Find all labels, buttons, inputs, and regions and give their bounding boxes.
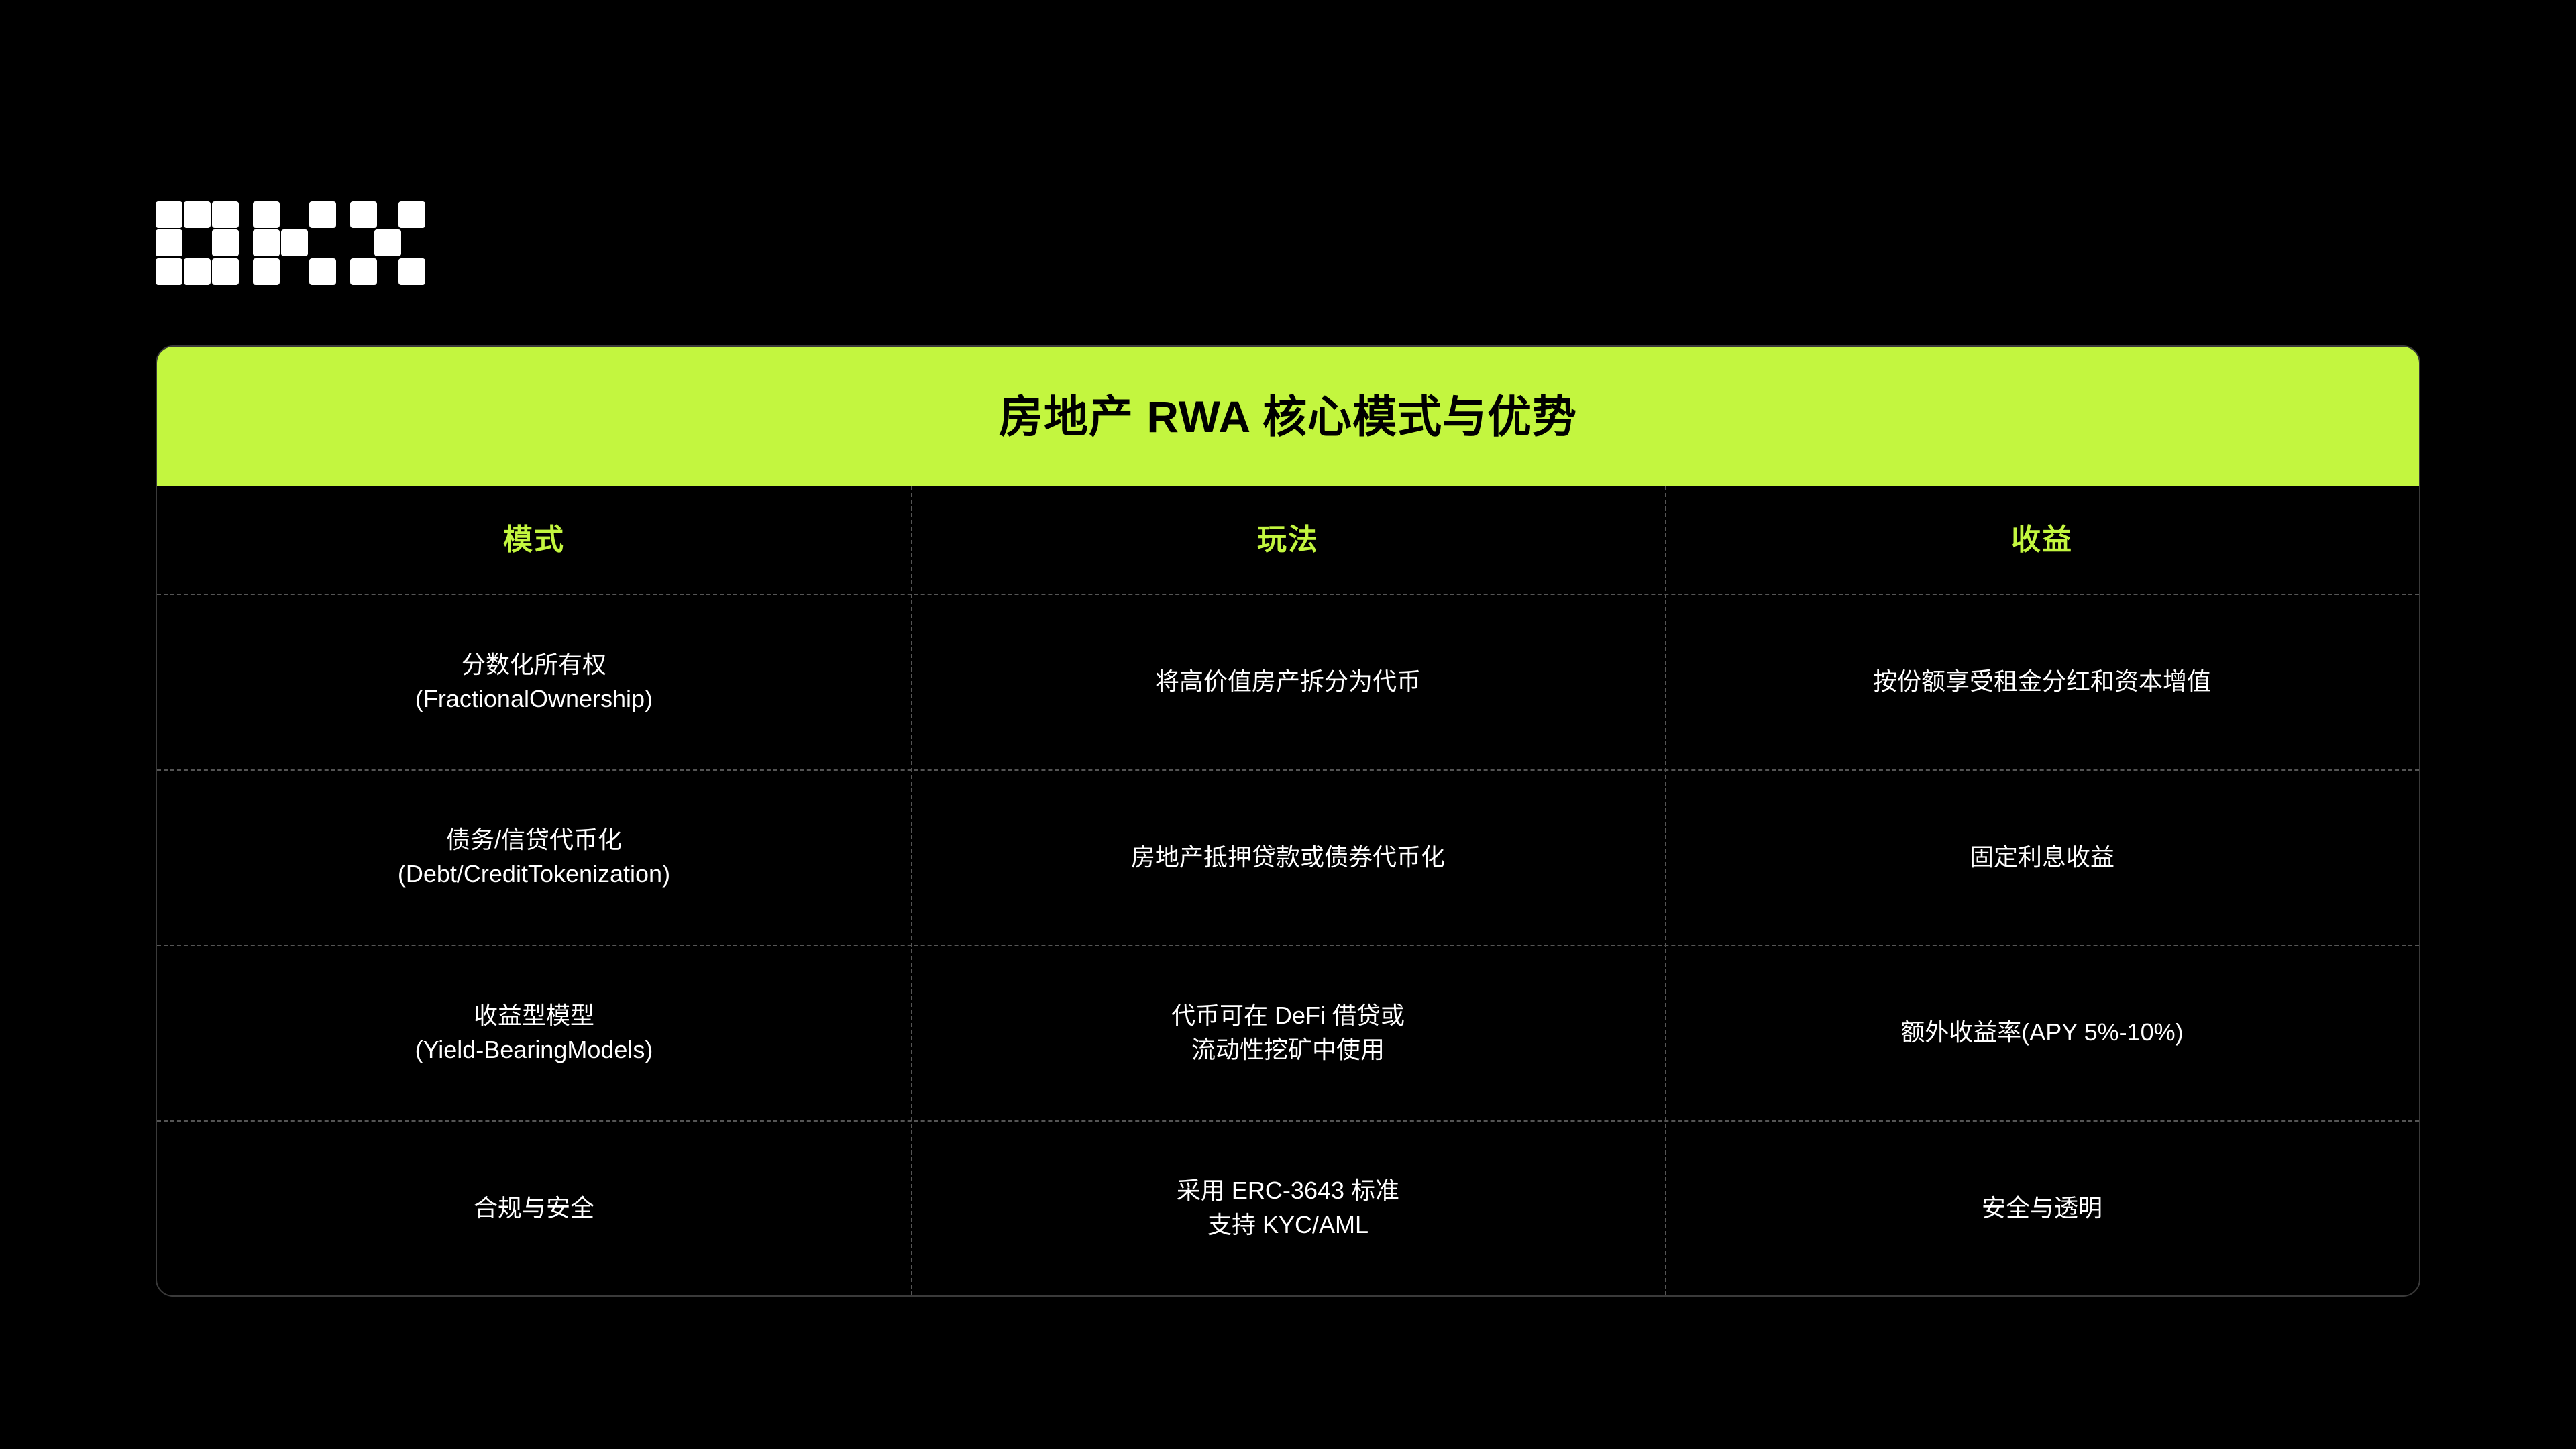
cell-text: 固定利息收益 (1970, 840, 2114, 874)
cell-text: 按份额享受租金分红和资本增值 (1873, 664, 2211, 698)
column-header-mode: 模式 (157, 486, 911, 594)
column-header-label: 模式 (503, 519, 565, 561)
cell-text: 安全与透明 (1982, 1191, 2102, 1225)
cell-text: 合规与安全 (474, 1191, 594, 1225)
cell-text: 采用 ERC-3643 标准 支持 KYC/AML (1177, 1173, 1399, 1242)
okx-logo (156, 201, 425, 285)
cell-yield: 固定利息收益 (1665, 769, 2419, 945)
cell-play: 代币可在 DeFi 借贷或 流动性挖矿中使用 (911, 945, 1665, 1120)
cell-play: 采用 ERC-3643 标准 支持 KYC/AML (911, 1120, 1665, 1296)
cell-mode: 合规与安全 (157, 1120, 911, 1296)
cell-play: 将高价值房产拆分为代币 (911, 594, 1665, 769)
cell-yield: 按份额享受租金分红和资本增值 (1665, 594, 2419, 769)
table-row: 分数化所有权 (FractionalOwnership) 将高价值房产拆分为代币… (157, 594, 2419, 769)
cell-text: 债务/信贷代币化 (Debt/CreditTokenization) (398, 822, 670, 891)
cell-text: 收益型模型 (Yield-BearingModels) (415, 998, 653, 1067)
cell-text: 房地产抵押贷款或债券代币化 (1131, 840, 1445, 874)
rwa-table-card: 房地产 RWA 核心模式与优势 模式 玩法 收益 分数化所有权 (Fracti (156, 345, 2420, 1297)
table-header-row: 模式 玩法 收益 (157, 486, 2419, 594)
cell-text: 额外收益率(APY 5%-10%) (1900, 1015, 2183, 1049)
cell-yield: 安全与透明 (1665, 1120, 2419, 1296)
column-header-yield: 收益 (1665, 486, 2419, 594)
cell-text: 分数化所有权 (FractionalOwnership) (415, 647, 653, 716)
column-header-play: 玩法 (911, 486, 1665, 594)
cell-mode: 债务/信贷代币化 (Debt/CreditTokenization) (157, 769, 911, 945)
cell-text: 代币可在 DeFi 借贷或 流动性挖矿中使用 (1171, 998, 1405, 1067)
cell-play: 房地产抵押贷款或债券代币化 (911, 769, 1665, 945)
card-title: 房地产 RWA 核心模式与优势 (157, 347, 2419, 486)
slide-root: 房地产 RWA 核心模式与优势 模式 玩法 收益 分数化所有权 (Fracti (0, 0, 2576, 1449)
column-header-label: 收益 (2011, 519, 2073, 561)
table-row: 收益型模型 (Yield-BearingModels) 代币可在 DeFi 借贷… (157, 945, 2419, 1120)
table-row: 合规与安全 采用 ERC-3643 标准 支持 KYC/AML 安全与透明 (157, 1120, 2419, 1296)
table-row: 债务/信贷代币化 (Debt/CreditTokenization) 房地产抵押… (157, 769, 2419, 945)
cell-yield: 额外收益率(APY 5%-10%) (1665, 945, 2419, 1120)
cell-mode: 收益型模型 (Yield-BearingModels) (157, 945, 911, 1120)
column-header-label: 玩法 (1257, 519, 1319, 561)
cell-text: 将高价值房产拆分为代币 (1155, 664, 1421, 698)
cell-mode: 分数化所有权 (FractionalOwnership) (157, 594, 911, 769)
comparison-table: 模式 玩法 收益 分数化所有权 (FractionalOwnership) 将高… (157, 486, 2419, 1295)
